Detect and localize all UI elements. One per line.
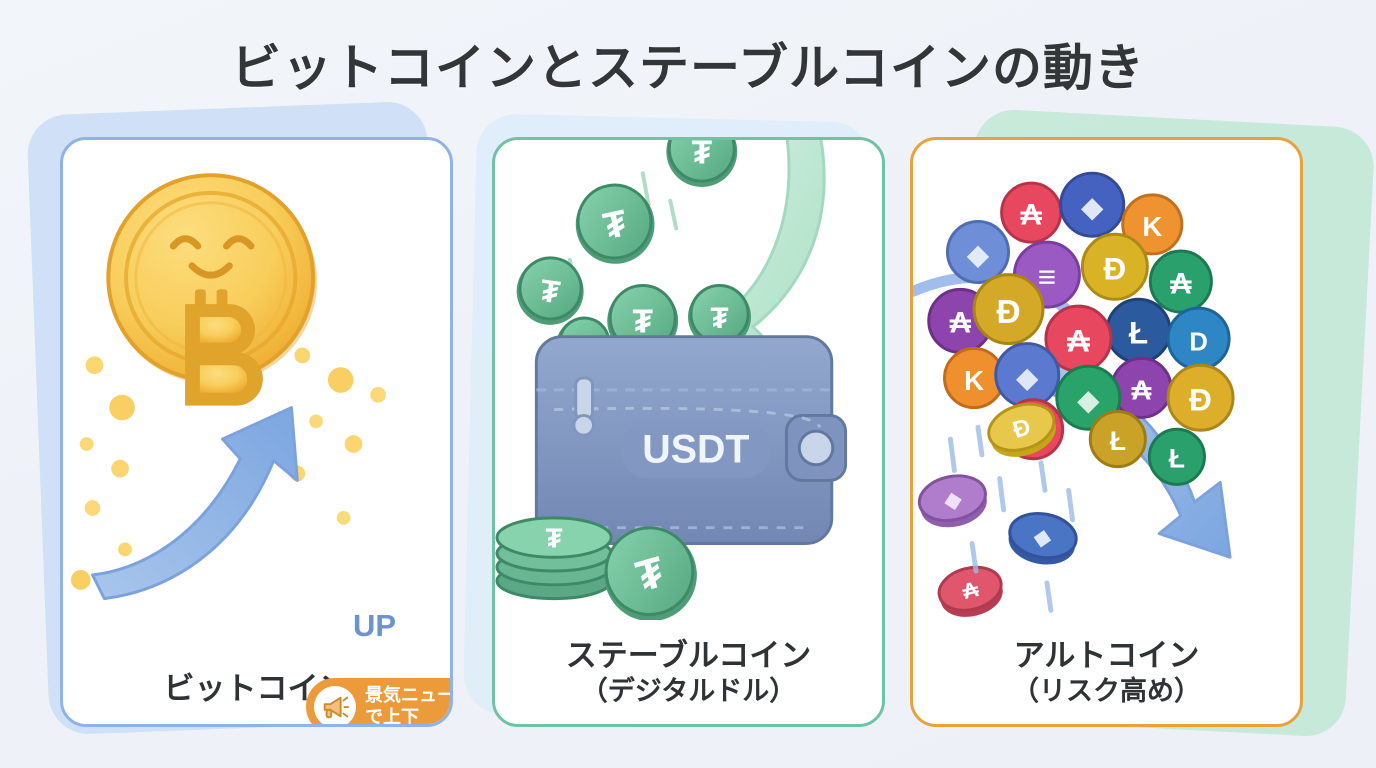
caption-altcoin-main: アルトコイン (913, 637, 1300, 675)
svg-text:D: D (1189, 328, 1207, 356)
svg-text:◆: ◆ (1081, 192, 1105, 223)
svg-text:₳: ₳ (1170, 267, 1192, 300)
svg-text:₳: ₳ (950, 307, 972, 340)
svg-text:₳: ₳ (1021, 198, 1043, 231)
svg-text:Ð: Ð (996, 294, 1020, 331)
svg-text:◆: ◆ (966, 239, 990, 270)
bitcoin-illustration (63, 140, 450, 620)
page-title: ビットコインとステーブルコインの動き (0, 28, 1376, 100)
badge-bitcoin-text: 景気ニュース で上下 (365, 685, 453, 727)
svg-text:₳: ₳ (1067, 322, 1090, 358)
svg-text:₮: ₮ (546, 522, 563, 553)
altcoin-illustration: ₳ ◆ K ◆ ≡ Ð ₳ ₳ Ð Ł D ₳ ₳ Ð K ◆ ◆ (913, 140, 1300, 620)
caption-altcoin: アルトコイン （リスク高め） (913, 637, 1300, 708)
svg-text:◆: ◆ (1077, 385, 1101, 416)
card-bitcoin[interactable]: UP 景気ニュース で上下 ビットコイン (60, 137, 453, 727)
svg-text:K: K (964, 365, 984, 396)
caption-stablecoin-sub: （デジタルドル） (495, 675, 882, 708)
wallet-usdt-label: USDT (642, 428, 749, 472)
svg-text:₮: ₮ (692, 140, 713, 171)
svg-text:Ł: Ł (1110, 426, 1126, 456)
altcoin-cluster: ₳ ◆ K ◆ ≡ Ð ₳ ₳ Ð Ł D ₳ ₳ Ð K ◆ ◆ (929, 173, 1233, 484)
up-trend-label: UP (353, 608, 396, 644)
svg-text:Ð: Ð (1189, 382, 1212, 418)
stablecoin-illustration: ₮ ₮ ₮ ₮ (495, 140, 882, 620)
caption-stablecoin-main: ステーブルコイン (495, 637, 882, 675)
card-stablecoin[interactable]: ₮ ₮ ₮ ₮ (492, 137, 885, 727)
svg-text:Ł: Ł (1129, 315, 1148, 351)
svg-text:Ð: Ð (1103, 251, 1126, 287)
svg-text:K: K (1142, 211, 1162, 242)
usdt-wallet: USDT (536, 337, 845, 544)
card-altcoin[interactable]: ₳ ◆ K ◆ ≡ Ð ₳ ₳ Ð Ł D ₳ ₳ Ð K ◆ ◆ (910, 137, 1303, 727)
svg-text:◆: ◆ (1016, 362, 1040, 393)
svg-text:Ł: Ł (1169, 444, 1185, 474)
svg-text:₮: ₮ (710, 302, 728, 335)
badge-bitcoin-news[interactable]: 景気ニュース で上下 (306, 678, 453, 727)
up-arrow (93, 408, 298, 599)
infographic-canvas: ビットコインとステーブルコインの動き (0, 0, 1376, 768)
caption-stablecoin: ステーブルコイン （デジタルドル） (495, 637, 882, 708)
caption-altcoin-sub: （リスク高め） (913, 675, 1300, 708)
falling-coins: Ð ◆ ◆ ₳ (915, 396, 1080, 620)
svg-text:₳: ₳ (1132, 375, 1152, 406)
megaphone-icon (314, 686, 356, 727)
svg-text:₮: ₮ (632, 304, 653, 341)
bitcoin-coin (108, 175, 317, 405)
svg-text:≡: ≡ (1038, 258, 1056, 294)
